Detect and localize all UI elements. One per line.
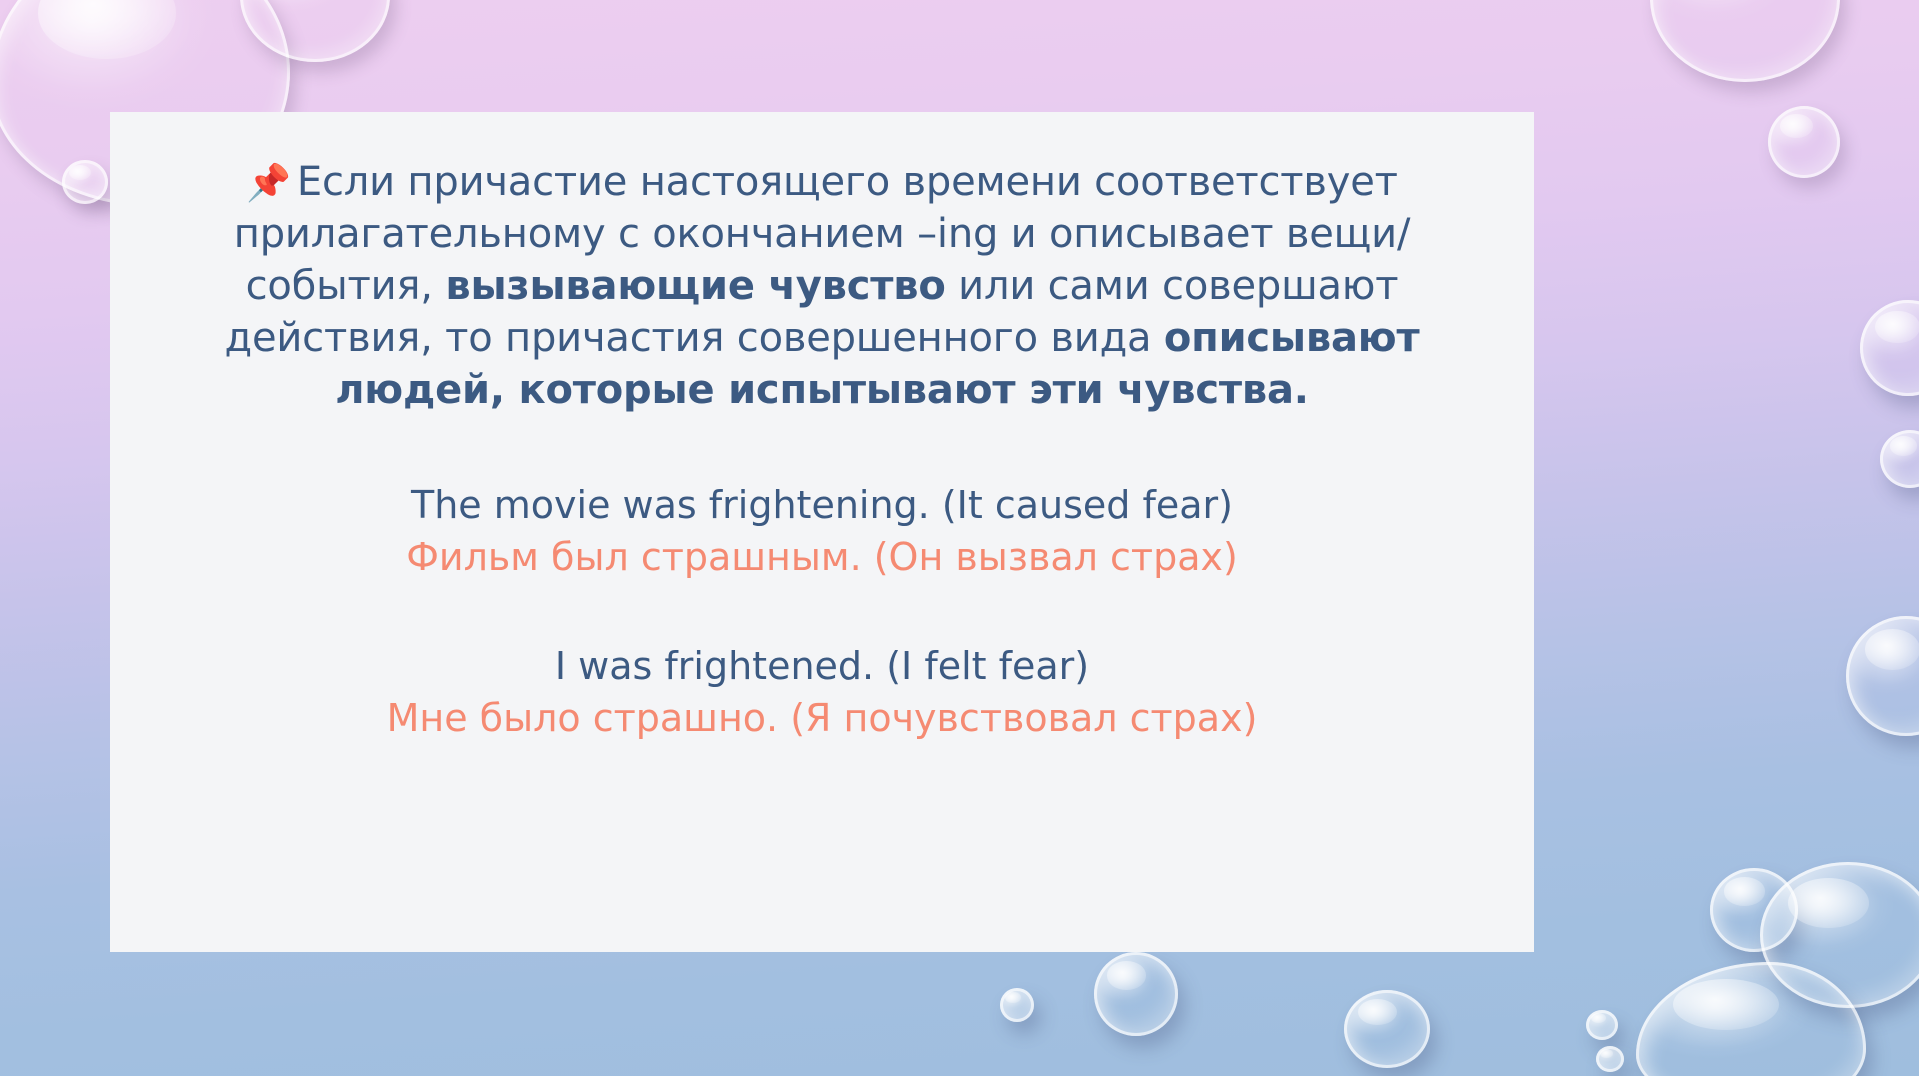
water-droplet-icon	[1880, 430, 1919, 488]
water-droplet-icon	[62, 160, 108, 204]
water-droplet-icon	[1000, 988, 1034, 1022]
pushpin-icon: 📌	[246, 163, 291, 204]
water-droplet-icon	[1636, 962, 1866, 1076]
water-droplet-icon	[1760, 862, 1919, 1008]
water-droplet-icon	[1860, 300, 1919, 396]
water-droplet-icon	[1596, 1046, 1624, 1072]
water-droplet-icon	[1094, 952, 1178, 1036]
water-droplet-icon	[240, 0, 390, 62]
rule-text-bold-1: вызывающие чувство	[445, 263, 945, 309]
example-1-english: The movie was frightening. (It caused fe…	[148, 480, 1496, 532]
example-2-english: I was frightened. (I felt fear)	[148, 641, 1496, 693]
water-droplet-icon	[1344, 990, 1430, 1068]
slide-canvas: 📌Если причастие настоящего времени соотв…	[0, 0, 1919, 1076]
example-2-russian: Мне было страшно. (Я почувствовал страх)	[148, 693, 1496, 745]
water-droplet-icon	[1586, 1010, 1618, 1040]
water-droplet-icon	[1650, 0, 1840, 82]
water-droplet-icon	[1768, 106, 1840, 178]
content-card: 📌Если причастие настоящего времени соотв…	[110, 112, 1534, 952]
water-droplet-icon	[1710, 868, 1798, 952]
example-1-russian: Фильм был страшным. (Он вызвал страх)	[148, 532, 1496, 584]
water-droplet-icon	[1846, 616, 1919, 736]
rule-paragraph: 📌Если причастие настоящего времени соотв…	[148, 156, 1496, 416]
